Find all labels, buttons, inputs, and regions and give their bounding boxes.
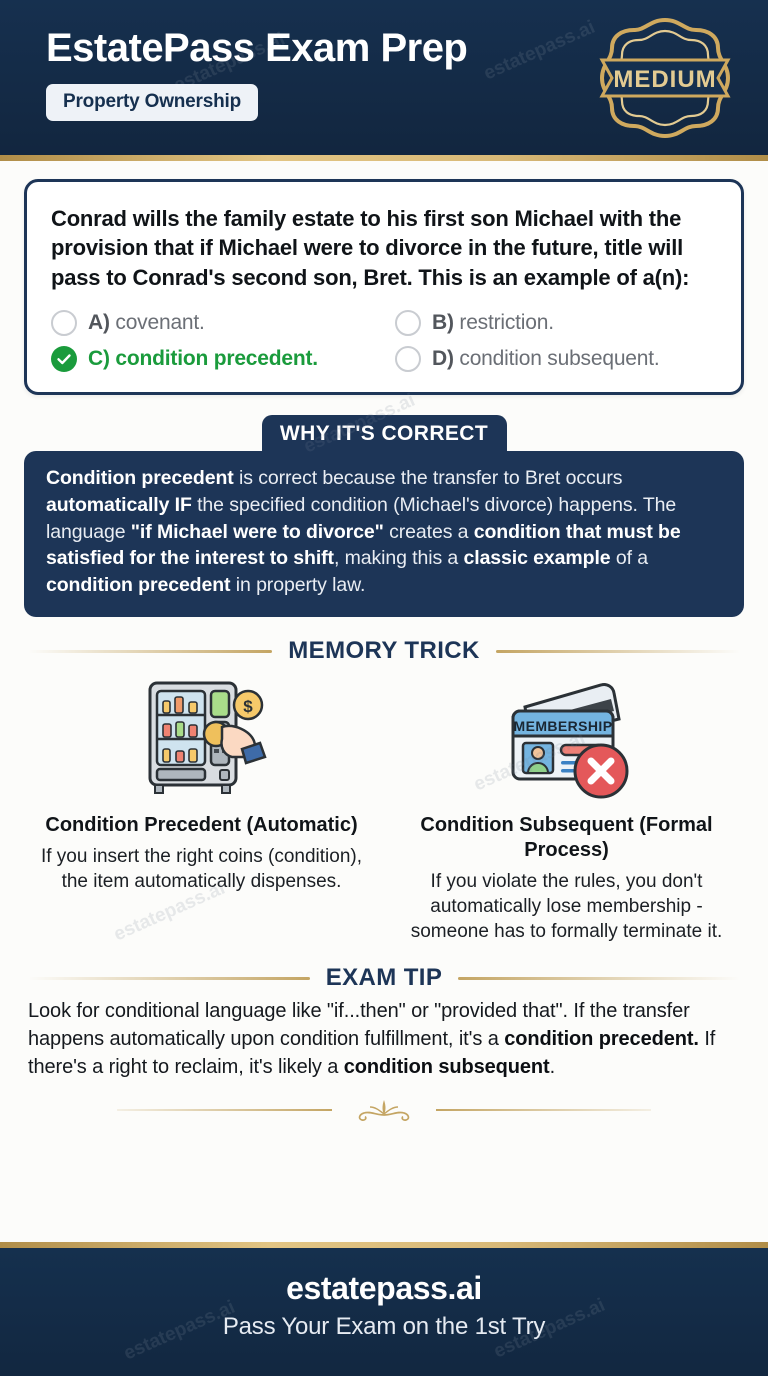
exam-tip-header: EXAM TIP xyxy=(28,964,740,992)
radio-unchecked-icon[interactable] xyxy=(395,310,421,336)
membership-card-revoked-icon: MEMBERSHIP xyxy=(403,675,730,803)
memory-trick-heading: MEMORY TRICK xyxy=(288,637,479,665)
memory-trick-title-subsequent: Condition Subsequent (Formal Process) xyxy=(403,813,730,863)
memory-trick-desc-precedent: If you insert the right coins (condition… xyxy=(38,845,365,894)
option-d[interactable]: D) condition subsequent. xyxy=(395,346,717,372)
exam-tip-body: Look for conditional language like "if..… xyxy=(24,998,744,1081)
memory-trick-column-precedent: $ Condition Precedent (Automatic) If you… xyxy=(24,675,379,944)
difficulty-badge-label: MEDIUM xyxy=(613,66,716,93)
option-a-label: A) covenant. xyxy=(88,311,205,335)
radio-unchecked-icon[interactable] xyxy=(51,310,77,336)
memory-trick-header: MEMORY TRICK xyxy=(28,637,740,665)
footer: estatepass.ai Pass Your Exam on the 1st … xyxy=(0,1248,768,1376)
topic-badge: Property Ownership xyxy=(46,84,258,121)
option-a[interactable]: A) covenant. xyxy=(51,310,391,336)
answer-options: A) covenant. B) restriction. xyxy=(51,310,717,372)
vending-machine-coin-icon: $ xyxy=(38,675,365,803)
option-b[interactable]: B) restriction. xyxy=(395,310,717,336)
memory-trick-title-precedent: Condition Precedent (Automatic) xyxy=(38,813,365,838)
why-correct-tab: WHY IT'S CORRECT xyxy=(262,415,507,453)
option-b-label: B) restriction. xyxy=(432,311,554,335)
option-d-label: D) condition subsequent. xyxy=(432,347,660,371)
main-content: estatepass.ai estatepass.ai estatepass.a… xyxy=(0,161,768,1242)
why-correct-body: Condition precedent is correct because t… xyxy=(24,451,744,618)
option-c[interactable]: C) condition precedent. xyxy=(51,346,391,372)
membership-card-label: MEMBERSHIP xyxy=(513,718,612,734)
divider-left xyxy=(28,650,272,653)
divider-right xyxy=(458,977,740,980)
ornament-divider xyxy=(34,1097,734,1123)
question-card: Conrad wills the family estate to his fi… xyxy=(24,179,744,395)
memory-trick-desc-subsequent: If you violate the rules, you don't auto… xyxy=(403,870,730,944)
footer-tagline: Pass Your Exam on the 1st Try xyxy=(0,1313,768,1341)
option-c-label: C) condition precedent. xyxy=(88,347,318,371)
divider-right xyxy=(496,650,740,653)
header: estatepass.ai estatepass.ai EstatePass E… xyxy=(0,0,768,155)
ornament-line-right xyxy=(436,1109,651,1112)
radio-checked-icon[interactable] xyxy=(51,346,77,372)
question-text: Conrad wills the family estate to his fi… xyxy=(51,204,717,292)
why-correct-section: WHY IT'S CORRECT Condition precedent is … xyxy=(24,415,744,618)
svg-text:$: $ xyxy=(243,697,253,716)
exam-tip-heading: EXAM TIP xyxy=(326,964,443,992)
infographic-page: estatepass.ai estatepass.ai EstatePass E… xyxy=(0,0,768,1376)
radio-unchecked-icon[interactable] xyxy=(395,346,421,372)
memory-trick-grid: $ Condition Precedent (Automatic) If you… xyxy=(24,675,744,944)
footer-brand: estatepass.ai xyxy=(0,1270,768,1307)
flourish-icon xyxy=(342,1097,426,1123)
ornament-line-left xyxy=(117,1109,332,1112)
divider-left xyxy=(28,977,310,980)
memory-trick-column-subsequent: MEMBERSHIP Condition Subsequent (Formal … xyxy=(389,675,744,944)
difficulty-badge: MEDIUM xyxy=(596,14,734,142)
